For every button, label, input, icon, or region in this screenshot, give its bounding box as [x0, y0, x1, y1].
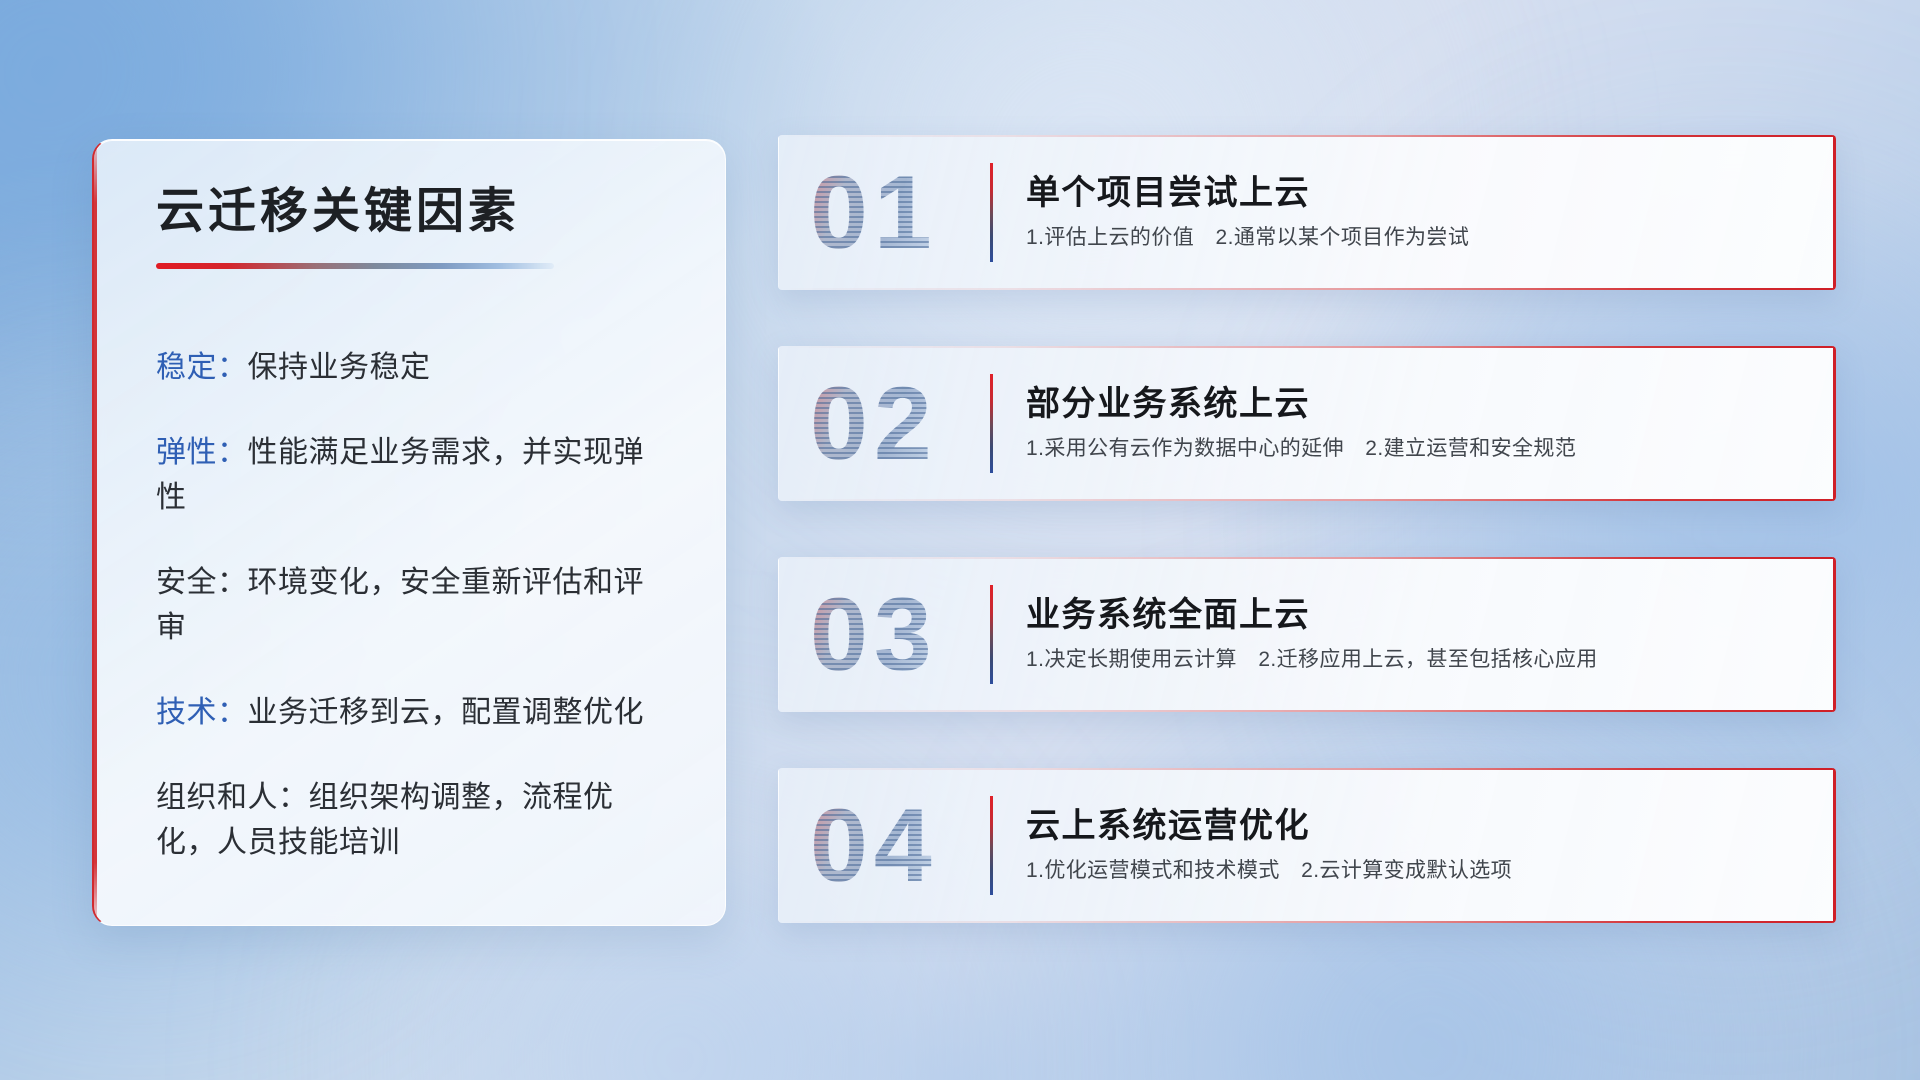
list-item: 技术：业务迁移到云，配置调整优化: [156, 690, 671, 735]
factor-label: 技术：: [156, 696, 248, 729]
step-content: 部分业务系统上云 1.采用公有云作为数据中心的延伸 2.建立运营和安全规范: [1026, 346, 1810, 501]
factor-label: 弹性：: [156, 436, 248, 469]
step-content: 业务系统全面上云 1.决定长期使用云计算 2.迁移应用上云，甚至包括核心应用: [1026, 557, 1810, 712]
step-description: 1.评估上云的价值 2.通常以某个项目作为尝试: [1026, 225, 1810, 250]
step-description: 1.优化运营模式和技术模式 2.云计算变成默认选项: [1026, 858, 1810, 883]
step-title: 业务系统全面上云: [1026, 597, 1810, 634]
list-item: 弹性：性能满足业务需求，并实现弹性: [156, 430, 671, 520]
step-description: 1.决定长期使用云计算 2.迁移应用上云，甚至包括核心应用: [1026, 647, 1810, 672]
page-title: 云迁移关键因素: [94, 140, 725, 241]
step-divider-bar: [990, 796, 993, 895]
step-content: 云上系统运营优化 1.优化运营模式和技术模式 2.云计算变成默认选项: [1026, 768, 1810, 923]
key-factors-panel: 云迁移关键因素 稳定：保持业务稳定 弹性：性能满足业务需求，并实现弹性 安全：环…: [92, 139, 726, 926]
step-content: 单个项目尝试上云 1.评估上云的价值 2.通常以某个项目作为尝试: [1026, 135, 1810, 290]
step-card-04[interactable]: 04 云上系统运营优化 1.优化运营模式和技术模式 2.云计算变成默认选项: [778, 768, 1836, 923]
step-card-02[interactable]: 02 部分业务系统上云 1.采用公有云作为数据中心的延伸 2.建立运营和安全规范: [778, 346, 1836, 501]
step-divider-bar: [990, 374, 993, 473]
step-divider-bar: [990, 585, 993, 684]
step-number-watermark: 01: [810, 161, 938, 265]
factor-value: 保持业务稳定: [248, 351, 431, 384]
step-card-03[interactable]: 03 业务系统全面上云 1.决定长期使用云计算 2.迁移应用上云，甚至包括核心应…: [778, 557, 1836, 712]
list-item: 组织和人：组织架构调整，流程优化，人员技能培训: [156, 775, 671, 865]
factor-label: 组织和人：: [156, 781, 309, 814]
key-factors-list: 稳定：保持业务稳定 弹性：性能满足业务需求，并实现弹性 安全：环境变化，安全重新…: [94, 269, 725, 865]
migration-steps-list: 01 单个项目尝试上云 1.评估上云的价值 2.通常以某个项目作为尝试 02 部…: [778, 135, 1836, 923]
step-card-01[interactable]: 01 单个项目尝试上云 1.评估上云的价值 2.通常以某个项目作为尝试: [778, 135, 1836, 290]
factor-label: 安全：: [156, 566, 248, 599]
list-item: 稳定：保持业务稳定: [156, 345, 671, 390]
step-divider-bar: [990, 163, 993, 262]
step-title: 云上系统运营优化: [1026, 808, 1810, 845]
factor-value: 业务迁移到云，配置调整优化: [248, 696, 645, 729]
step-number-watermark: 04: [810, 794, 938, 898]
step-description: 1.采用公有云作为数据中心的延伸 2.建立运营和安全规范: [1026, 436, 1810, 461]
step-number-watermark: 03: [810, 583, 938, 687]
slide-stage: 云迁移关键因素 稳定：保持业务稳定 弹性：性能满足业务需求，并实现弹性 安全：环…: [0, 0, 1920, 1080]
step-title: 单个项目尝试上云: [1026, 175, 1810, 212]
factor-label: 稳定：: [156, 351, 248, 384]
step-title: 部分业务系统上云: [1026, 386, 1810, 423]
step-number-watermark: 02: [810, 372, 938, 476]
list-item: 安全：环境变化，安全重新评估和评审: [156, 560, 671, 650]
